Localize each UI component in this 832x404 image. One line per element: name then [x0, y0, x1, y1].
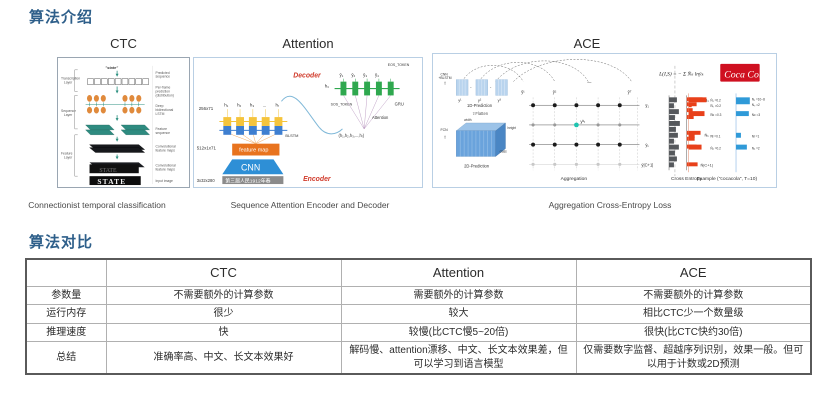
ctc-architecture-diagram: Transcription Layer Sequence Layer Featu… [58, 58, 189, 187]
panel-heading-ctc: CTC [57, 36, 190, 51]
attn-y2: ŷ₂ [351, 73, 355, 78]
ace-yhat-k1: ȳ₁ [645, 103, 649, 108]
cell-memory-attention: 较大 [341, 305, 576, 324]
table-header-ctc: CTC [106, 259, 341, 286]
ctc-note-lstm-3: LSTM [156, 112, 165, 116]
ace-dim-class: class [500, 150, 508, 154]
ace-ex-nbar1: N̄₁ =0.2 [710, 98, 721, 102]
table-row: 运行内存 很少 较大 相比CTC少一个数量级 [26, 305, 811, 324]
ace-y2-sup: y² [478, 97, 482, 102]
ace-y1-sup: y¹ [458, 97, 462, 102]
ace-dim-height: height [507, 126, 516, 130]
attn-gru-label: GRU [395, 101, 404, 106]
caption-ctc: Connectionist temporal classification [2, 200, 192, 210]
ctc-label-sequence-2: Layer [64, 113, 73, 117]
cell-speed-ace: 很快(比CTC快约30倍) [576, 323, 811, 342]
ace-loss-diagram: CNN +BLSTM ⇧ - - y¹ y² y³ 1D-Prediction … [433, 54, 776, 187]
section-title-intro: 算法介绍 [29, 6, 93, 27]
ace-aggregation-label: Aggregation [561, 176, 588, 182]
cell-speed-attention: 较慢(比CTC慢5~20倍) [341, 323, 576, 342]
cell-params-ctc: 不需要额外的计算参数 [106, 286, 341, 305]
attn-encoder-label: Encoder [303, 176, 331, 183]
attn-sos-token: SOS_TOKEN [331, 102, 353, 106]
ctc-note-convimg-2: feature maps [156, 167, 176, 171]
table-header-row: CTC Attention ACE [26, 259, 811, 286]
attn-decoder-label: Decoder [293, 73, 321, 80]
ctc-label-feature-2: Layer [64, 155, 73, 159]
ctc-predicted-word: "state" [105, 65, 118, 70]
attn-context-vector: (h₁,h₂,h₃,...,hᵣ) [339, 133, 365, 138]
ace-ex-n1: N₁ =10−8 [752, 97, 765, 101]
ace-cnn-blstm-label-2: +BLSTM [438, 76, 451, 80]
attn-dim-256x71: 256x71 [199, 106, 214, 111]
panel-heading-ace: ACE [432, 36, 742, 51]
ace-yhat1: ŷ¹ [521, 89, 525, 94]
attn-y4: ŷ₄ [375, 73, 379, 78]
attention-encoder-decoder-diagram: 256x71 512x1x71 3x32x280 第三届人民1912年春 CNN… [194, 58, 422, 187]
ace-dash: — [587, 80, 592, 85]
figure-panel-ace: CNN +BLSTM ⇧ - - y¹ y² y³ 1D-Prediction … [432, 53, 777, 188]
row-label-params: 参数量 [26, 286, 106, 305]
attn-cnn-label: CNN [241, 162, 260, 172]
ctc-note-featseq-2: sequence [156, 131, 171, 135]
ace-flatten-label: ⇧Flatten [472, 111, 489, 116]
cell-params-ace: 不需要额外的计算参数 [576, 286, 811, 305]
table-row: 参数量 不需要额外的计算参数 需要额外的计算参数 不需要额外的计算参数 [26, 286, 811, 305]
cell-summary-ctc: 准确率高、中文、长文本效果好 [106, 342, 341, 375]
ace-yhat-k: ȳₖ [645, 143, 649, 148]
table-corner-cell [26, 259, 106, 286]
attn-h3: h₃ [250, 102, 254, 107]
row-label-memory: 运行内存 [26, 305, 106, 324]
cell-summary-ace: 仅需要数字监督、超越序列识别，效果一般。但可以用于计数或2D预测 [576, 342, 811, 375]
attn-hdots: ... [263, 102, 267, 107]
ace-yhat-c1: ȳ|C+1| [641, 162, 653, 167]
ace-loss-formula: L(I,S) = − Σ N̄ₖ lnȳₖ [658, 71, 704, 78]
table-row: 推理速度 快 较慢(比CTC慢5~20倍) 很快(比CTC快约30倍) [26, 323, 811, 342]
attn-hT: hᵣ [276, 102, 280, 107]
ace-arrow-up-2: ⇧ [443, 135, 446, 140]
row-label-summary: 总结 [26, 342, 106, 375]
ctc-note-perframe-3: (distribution) [156, 93, 174, 97]
cell-memory-ctc: 很少 [106, 305, 341, 324]
ace-ex-nbar0: N̄₀ =0.2 [710, 104, 721, 108]
attn-attention-label: Attention [372, 115, 389, 120]
ace-1d-prediction-label: 1D-Prediction [467, 103, 493, 108]
ctc-note-predicted-2: sequence [156, 75, 171, 79]
attn-h2: h₂ [237, 102, 241, 107]
table-header-ace: ACE [576, 259, 811, 286]
ace-dim-width: width [464, 118, 472, 122]
attn-dim-512x1x71: 512x1x71 [197, 146, 217, 151]
ace-ex-nbarc: N̄c =0.3 [710, 113, 721, 117]
attn-dim-3x32x280: 3x32x280 [197, 178, 216, 183]
attn-eos-token: EOS_TOKEN [388, 63, 410, 67]
row-label-speed: 推理速度 [26, 323, 106, 342]
attn-h0: h₀ [325, 84, 329, 89]
ace-cocacola-logo: Coca Cola [724, 70, 766, 81]
figure-panel-ctc: Transcription Layer Sequence Layer Featu… [57, 57, 190, 188]
ace-ex-nl: Nl =1 [752, 135, 760, 139]
attn-featuremap-label: feature map [239, 148, 268, 154]
ctc-input-image-text: STATE [97, 177, 126, 186]
ctc-note-input: Input image [156, 179, 174, 183]
ace-yhatT: ŷᵀ [628, 89, 632, 94]
ctc-note-convmap-2: feature maps [156, 149, 176, 153]
attn-blstm-label: BLSTM [285, 133, 298, 138]
ace-grid-node-label: yᵏₜ [580, 119, 585, 124]
ace-yhat2: ŷ² [553, 89, 557, 94]
ace-arrow-up-1: ⇧ [443, 81, 446, 86]
cell-speed-ctc: 快 [106, 323, 341, 342]
svg-text:-: - [490, 85, 492, 90]
table-row: 总结 准确率高、中文、长文本效果好 解码慢、attention漂移、中文、长文本… [26, 342, 811, 375]
ace-ex-nbara: N̄ₐ =0.2 [710, 146, 721, 150]
attn-h1: h₁ [224, 102, 228, 107]
ace-ex-nc: Nc =3 [752, 113, 761, 117]
svg-text:-: - [470, 85, 472, 90]
ace-ex-na: Nₐ =2 [752, 147, 760, 151]
panel-heading-attention: Attention [193, 36, 423, 51]
cell-params-attention: 需要额外的计算参数 [341, 286, 576, 305]
ace-y3-sup: y³ [498, 97, 502, 102]
caption-ace: Aggregation Cross-Entropy Loss [460, 200, 760, 210]
ctc-label-transcription-2: Layer [64, 81, 73, 85]
ace-ex-n0: N₀ =2 [752, 103, 760, 107]
figure-panel-attention: 256x71 512x1x71 3x32x280 第三届人民1912年春 CNN… [193, 57, 423, 188]
ace-ex-nbarl: N̄l =0.1 [710, 134, 720, 138]
ace-fcn-label: FCN [440, 128, 448, 132]
svg-text:STATE: STATE [99, 168, 117, 174]
ace-2d-prediction-label: 2D-Prediction [464, 163, 490, 168]
attn-input-text: 第三届人民1912年春 [225, 178, 270, 185]
cell-memory-ace: 相比CTC少一个数量级 [576, 305, 811, 324]
attn-y1: ŷ₁ [340, 73, 344, 78]
caption-attention: Sequence Attention Encoder and Decoder [190, 200, 430, 210]
section-title-compare: 算法对比 [29, 231, 93, 252]
table-header-attention: Attention [341, 259, 576, 286]
cell-summary-attention: 解码慢、attention漂移、中文、长文本效果差，但可以学习到语言模型 [341, 342, 576, 375]
algorithm-comparison-table: CTC Attention ACE 参数量 不需要额外的计算参数 需要额外的计算… [25, 258, 812, 375]
ace-ce-nc1: N̄|C+1| [701, 162, 713, 167]
attn-y3: ŷ₃ [363, 73, 367, 78]
ace-ce-nk: N̄ₖ [704, 133, 709, 138]
ace-example-label: Example ("cocacola", T=10) [697, 176, 758, 182]
